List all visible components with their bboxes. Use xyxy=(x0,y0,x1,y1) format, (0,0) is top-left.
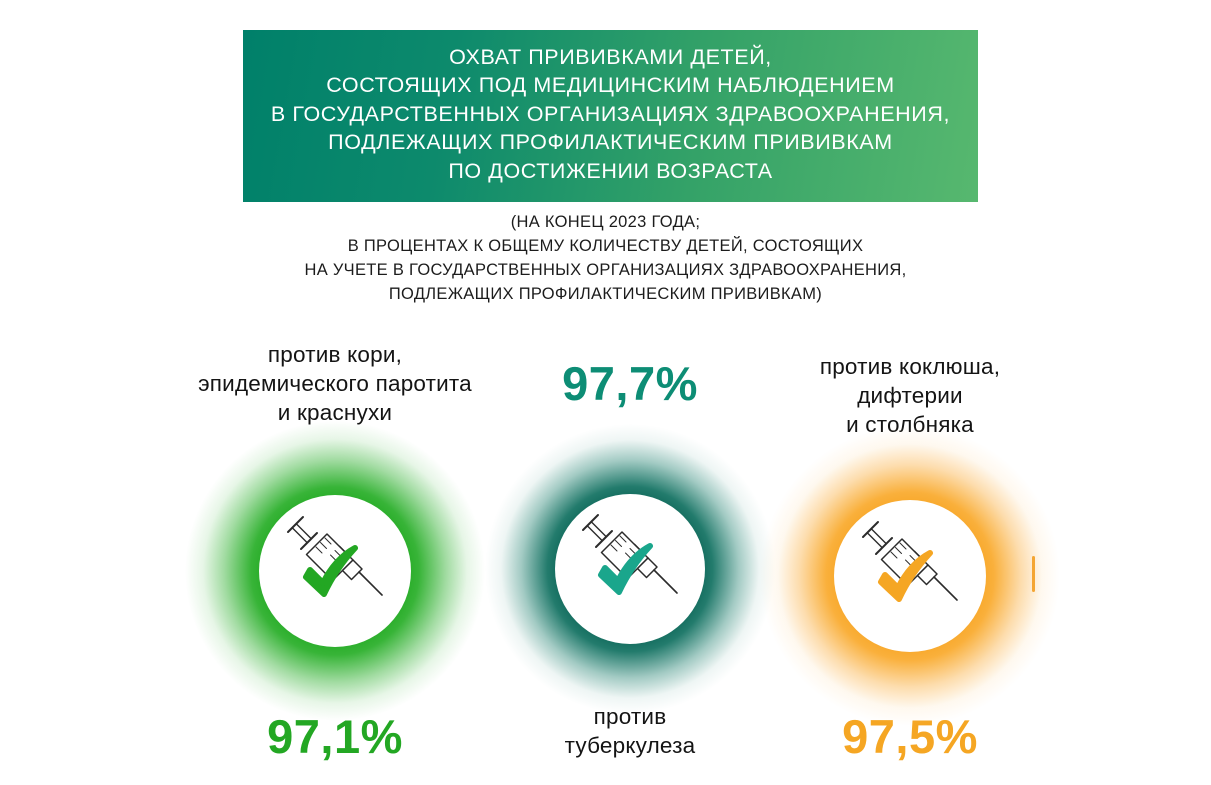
icon-disc-measles xyxy=(259,495,411,647)
header-title-line-2: СОСТОЯЩИХ ПОД МЕДИЦИНСКИМ НАБЛЮДЕНИЕМ xyxy=(326,71,894,100)
subtitle-line-1: (НА КОНЕЦ 2023 ГОДА; xyxy=(0,210,1211,234)
icon-disc-pertussis xyxy=(834,500,986,652)
icon-disc-tuberculosis xyxy=(555,494,705,644)
subtitle-block: (НА КОНЕЦ 2023 ГОДА; В ПРОЦЕНТАХ К ОБЩЕМ… xyxy=(0,210,1211,306)
syringe-check-icon xyxy=(574,513,686,625)
stat-icon-badge-pertussis xyxy=(760,447,1060,705)
stat-value-tuberculosis: 97,7% xyxy=(562,360,698,407)
subtitle-line-4: ПОДЛЕЖАЩИХ ПРОФИЛАКТИЧЕСКИМ ПРИВИВКАМ) xyxy=(0,282,1211,306)
syringe-check-icon xyxy=(279,515,391,627)
stat-label-measles-mumps-rubella: против кори, эпидемического паротита и к… xyxy=(198,340,472,427)
syringe-check-icon xyxy=(854,520,966,632)
subtitle-line-2: В ПРОЦЕНТАХ К ОБЩЕМУ КОЛИЧЕСТВУ ДЕТЕЙ, С… xyxy=(0,234,1211,258)
stat-item-pertussis-diphtheria-tetanus: против коклюша, дифтерии и столбняка xyxy=(720,340,1100,760)
header-title-line-3: В ГОСУДАРСТВЕННЫХ ОРГАНИЗАЦИЯХ ЗДРАВООХР… xyxy=(271,100,950,129)
header-banner: ОХВАТ ПРИВИВКАМИ ДЕТЕЙ, СОСТОЯЩИХ ПОД МЕ… xyxy=(243,30,978,202)
stat-label-tuberculosis: против туберкулеза xyxy=(565,702,696,760)
header-title-line-1: ОХВАТ ПРИВИВКАМИ ДЕТЕЙ, xyxy=(449,43,772,72)
subtitle-line-3: НА УЧЕТЕ В ГОСУДАРСТВЕННЫХ ОРГАНИЗАЦИЯХ … xyxy=(0,258,1211,282)
header-title-line-4: ПОДЛЕЖАЩИХ ПРОФИЛАКТИЧЕСКИМ ПРИВИВКАМ xyxy=(328,128,893,157)
decorative-tick-mark xyxy=(1032,556,1035,592)
stat-value-measles-mumps-rubella: 97,1% xyxy=(267,713,403,760)
header-title-line-5: ПО ДОСТИЖЕНИИ ВОЗРАСТА xyxy=(448,157,772,186)
statistics-columns: против кори, эпидемического паротита и к… xyxy=(0,340,1211,770)
stat-value-pertussis-diphtheria-tetanus: 97,5% xyxy=(842,713,978,760)
stat-label-pertussis-diphtheria-tetanus: против коклюша, дифтерии и столбняка xyxy=(820,352,1000,439)
